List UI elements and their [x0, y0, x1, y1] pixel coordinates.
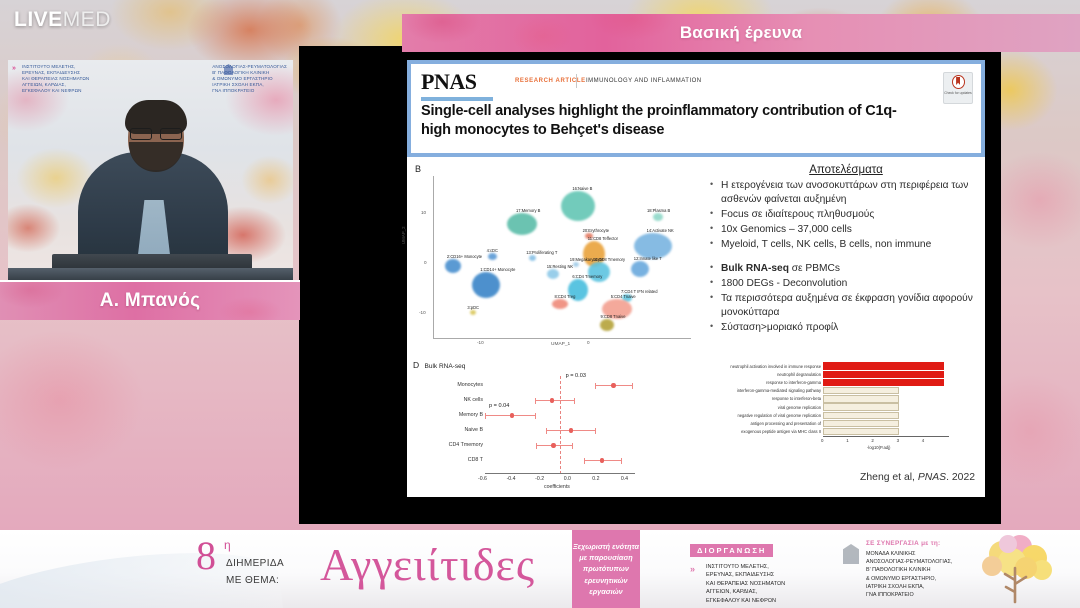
go-bar-label: viral genome replication [699, 405, 823, 410]
conference-subtitle-1: ΔΙΗΜΕΡΙΔΑ [226, 558, 284, 569]
go-bar-track [823, 395, 949, 402]
go-xtick: 4 [922, 438, 924, 443]
umap-cluster-label: 15:Resting NK [547, 264, 573, 269]
go-bar-label: neutrophil activation involved in immune… [699, 364, 823, 369]
go-bar-row: antigen processing and presentation of [699, 419, 949, 427]
go-bar [823, 387, 899, 394]
forest-row-label: CD8 T [468, 457, 483, 463]
journal-section-label: IMMUNOLOGY AND INFLAMMATION [586, 78, 702, 84]
umap-xtick-0: 0 [587, 340, 590, 345]
forest-row [485, 415, 635, 416]
organizer-body: » ΙΝΣΤΙΤΟΥΤΟ ΜΕΛΕΤΗΣ, ΕΡΕΥΝΑΣ, ΕΚΠΑΙΔΕΥΣ… [690, 563, 785, 605]
conference-ordinal: 8 [196, 536, 216, 576]
check-for-updates-badge[interactable]: Check for updates [943, 72, 973, 104]
umap-cluster-label: 11:CD8 Teffector [588, 236, 618, 241]
go-bar-label: negative regulation of viral genome repl… [699, 413, 823, 418]
conference-ordinal-suffix: η [224, 538, 231, 552]
tree-logo-icon [968, 532, 1064, 606]
organizer-text: ΙΝΣΤΙΤΟΥΤΟ ΜΕΛΕΤΗΣ, ΕΡΕΥΝΑΣ, ΕΚΠΑΙΔΕΥΣΗΣ… [706, 563, 785, 605]
go-bar-label: response to interferon-gamma [699, 380, 823, 385]
go-bar-track [823, 403, 949, 410]
umap-cluster-label: 12:Innate like T [634, 256, 662, 261]
umap-cluster-label: 8:CD4 Treg [554, 294, 575, 299]
umap-cluster [600, 319, 614, 331]
umap-cluster [470, 310, 476, 315]
umap-x-axis [433, 338, 691, 339]
bookmark-icon [952, 75, 965, 89]
speaker-overlay-clinic: ΑΝΟΣΟΛΟΓΙΑΣ-ΡΕΥΜΑΤΟΛΟΓΙΑΣ Β' ΠΑΘΟΛΟΓΙΚΗ … [212, 64, 287, 93]
special-session-note: Ξεχωριστή ενότητα με παρουσίαση πρωτότυπ… [572, 530, 640, 608]
forest-row-label: CD4 Tmemory [449, 442, 483, 448]
umap-cluster-label: 2:CD16+ Monocyte [447, 254, 482, 259]
citation: Zheng et al, PNAS. 2022 [860, 472, 975, 483]
slide-content: PNAS RESEARCH ARTICLE IMMUNOLOGY AND INF… [407, 60, 985, 497]
umap-cluster [488, 253, 497, 260]
forest-pvalue: p = 0.04 [489, 403, 509, 409]
citation-journal: PNAS [918, 472, 946, 483]
check-for-updates-label: Check for updates [944, 91, 972, 95]
footer-swoosh [0, 539, 283, 608]
speaker-name-bar: Α. Μπανός [0, 282, 300, 320]
forest-row [485, 460, 635, 461]
umap-ytick-0: 0 [424, 260, 427, 265]
umap-x-axis-label: UMAP_1 [551, 342, 570, 347]
results-list-scrna: Η ετερογένεια των ανοσοκυττάρων στη περι… [707, 179, 985, 251]
go-x-axis [823, 436, 949, 437]
umap-cluster [552, 299, 568, 309]
special-session-text: Ξεχωριστή ενότητα με παρουσίαση πρωτότυπ… [572, 541, 640, 597]
go-bar-label: antigen processing and presentation of [699, 421, 823, 426]
umap-ytick-10: 10 [421, 210, 426, 215]
chevron-right-icon: » [690, 563, 695, 577]
masthead-divider [576, 74, 577, 88]
results-list-bulk: Bulk RNA-seq σε PBMCs1800 DEGs - Deconvo… [707, 262, 985, 334]
results-heading: Αποτελέσματα [707, 164, 985, 176]
go-bar-label: neutrophil degranulation [699, 372, 823, 377]
umap-cluster-label: 9:CD8 Tnaive [601, 314, 626, 319]
forest-row [485, 400, 635, 401]
screen: LIVEMED Βασική έρευνα » ΙΝΣΤΙΤΟΥΤΟ ΜΕΛΕΤ… [0, 0, 1080, 608]
forest-pvalue: p = 0.03 [566, 373, 586, 379]
panel-d-title: Bulk RNA-seq [425, 363, 466, 370]
forest-xtick: 0.2 [592, 476, 599, 482]
go-xtick: 2 [871, 438, 873, 443]
result-item: Focus σε ιδιαίτερους πληθυσμούς [707, 208, 985, 222]
forest-xtick: -0.6 [478, 476, 487, 482]
umap-cluster [547, 269, 559, 279]
chevron-right-icon: » [12, 65, 16, 72]
result-item: Τα περισσότερα αυξημένα σε έκφραση γονίδ… [707, 292, 985, 320]
go-bar-label: interferon-gamma-mediated signaling path… [699, 388, 823, 393]
forest-row-label: Naive B [464, 427, 483, 433]
go-bar [823, 362, 944, 369]
livemed-med: MED [63, 8, 111, 31]
forest-x-axis-label: coefficients [544, 484, 570, 490]
umap-panel: B UMAP_2 UMAP_1 10 0 -10 -10 0 16:Naive … [411, 164, 703, 356]
umap-cluster-label: 16:Naive B [572, 186, 592, 191]
conference-title: Αγγειίτιδες [320, 538, 535, 591]
organizer-heading: ΔΙΟΡΓΑΝΩΣΗ [690, 544, 773, 557]
forest-xtick: 0.4 [621, 476, 628, 482]
speaker-name: Α. Μπανός [100, 290, 201, 312]
go-bar-track [823, 387, 949, 394]
result-item: Myeloid, T cells, NK cells, B cells, non… [707, 238, 985, 252]
go-bar-track [823, 371, 949, 378]
go-bar [823, 403, 899, 410]
umap-cluster-label: 20:Erythrocyte [583, 228, 609, 233]
umap-cluster-label: 5:CD4 Tnaive [611, 294, 636, 299]
go-enrichment-chart: neutrophil activation involved in immune… [699, 362, 949, 460]
umap-ytick-neg10: -10 [419, 310, 426, 315]
umap-cluster-label: 1:CD14+ Monocyte [480, 267, 515, 272]
session-header-band: Βασική έρευνα [402, 14, 1080, 52]
result-item: Bulk RNA-seq σε PBMCs [707, 262, 985, 276]
pnas-rule [421, 97, 493, 101]
umap-cluster-label: 10:CD8 Tmemory [593, 257, 625, 262]
citation-authors: Zheng et al, [860, 472, 918, 483]
umap-y-axis-label: UMAP_2 [401, 226, 406, 244]
umap-y-axis [433, 176, 434, 338]
forest-row-label: NK cells [464, 397, 483, 403]
forest-row [485, 445, 635, 446]
results-section: Αποτελέσματα Η ετερογένεια των ανοσοκυττ… [707, 164, 985, 336]
umap-cluster-label: 3:pDC [467, 305, 479, 310]
speaker-overlay-institute: ΙΝΣΤΙΤΟΥΤΟ ΜΕΛΕΤΗΣ, ΕΡΕΥΝΑΣ, ΕΚΠΑΙΔΕΥΣΗΣ… [22, 64, 89, 93]
result-item: Η ετερογένεια των ανοσοκυττάρων στη περι… [707, 179, 985, 207]
umap-cluster-label: 18:Plasma B [647, 208, 670, 213]
go-bar [823, 428, 899, 435]
umap-cluster [653, 213, 663, 221]
umap-cluster [631, 261, 649, 277]
go-bar-track [823, 428, 949, 435]
citation-year: . 2022 [946, 472, 975, 483]
session-title: Βασική έρευνα [680, 23, 802, 43]
umap-cluster [445, 259, 461, 273]
umap-cluster-label: 17:Memory B [516, 208, 540, 213]
go-bar [823, 412, 899, 419]
umap-cluster [507, 213, 537, 235]
speaker-glasses [129, 128, 183, 140]
livemed-logo: LIVEMED [14, 8, 111, 32]
journal-card: PNAS RESEARCH ARTICLE IMMUNOLOGY AND INF… [411, 64, 981, 153]
forest-row [485, 430, 635, 431]
go-bar-row: response to interferon-gamma [699, 378, 949, 386]
umap-cluster [573, 262, 579, 267]
go-xtick: 0 [821, 438, 823, 443]
forest-row [485, 385, 635, 386]
umap-cluster-label: 13:Proliferating T [526, 250, 557, 255]
result-item: 10x Genomics – 37,000 cells [707, 223, 985, 237]
forest-row-label: Monocytes [457, 382, 483, 388]
go-bar-track [823, 362, 949, 369]
forest-xtick: -0.2 [535, 476, 544, 482]
go-xtick: 3 [897, 438, 899, 443]
go-bar-label: response to interferon-beta [699, 396, 823, 401]
article-title: Single-cell analyses highlight the proin… [421, 102, 921, 140]
result-item: 1800 DEGs - Deconvolution [707, 277, 985, 291]
umap-cluster-label: 6:CD4 Tmemory [572, 274, 602, 279]
result-item: Σύσταση>μοριακό προφίλ [707, 321, 985, 335]
livemed-live: LIVE [14, 8, 63, 31]
go-x-axis-label: -log10(P.adj) [867, 445, 890, 450]
forest-plot: Monocytesp = 0.03NK cellsMemory Bp = 0.0… [485, 376, 635, 474]
forest-row-label: Memory B [459, 412, 483, 418]
umap-xtick-neg10: -10 [477, 340, 484, 345]
go-bar-row: exogenous peptide antigen via MHC class … [699, 428, 949, 436]
speaker-video[interactable]: » ΙΝΣΤΙΤΟΥΤΟ ΜΕΛΕΤΗΣ, ΕΡΕΥΝΑΣ, ΕΚΠΑΙΔΕΥΣ… [8, 60, 293, 282]
forest-plot-panel: D Bulk RNA-seq Monocytesp = 0.03NK cells… [411, 360, 703, 494]
conference-subtitle-2: ΜΕ ΘΕΜΑ: [226, 575, 279, 586]
pnas-logo: PNAS [421, 71, 476, 93]
go-bar [823, 379, 944, 386]
go-bar-row: viral genome replication [699, 403, 949, 411]
umap-cluster [472, 272, 500, 298]
go-bar [823, 395, 899, 402]
name-bar-divider [0, 280, 300, 282]
umap-cluster-label: 14:Activate NK [647, 228, 674, 233]
panel-d-label: D Bulk RNA-seq [413, 360, 465, 370]
go-bar-row: negative regulation of viral genome repl… [699, 411, 949, 419]
go-bar-row: neutrophil activation involved in immune… [699, 362, 949, 370]
go-bar-label: exogenous peptide antigen via MHC class … [699, 429, 823, 434]
forest-x-axis [485, 473, 635, 474]
go-bar [823, 371, 944, 378]
umap-cluster [529, 255, 536, 261]
journal-masthead: PNAS RESEARCH ARTICLE IMMUNOLOGY AND INF… [407, 60, 985, 157]
umap-cluster [588, 262, 610, 282]
go-bar-track [823, 420, 949, 427]
forest-xtick: 0.0 [564, 476, 571, 482]
umap-cluster-label: 4:cDC [487, 248, 498, 253]
umap-cluster [561, 191, 595, 221]
panel-b-label: B [415, 164, 421, 174]
go-bar-track [823, 379, 949, 386]
organizer-block: ΔΙΟΡΓΑΝΩΣΗ » ΙΝΣΤΙΤΟΥΤΟ ΜΕΛΕΤΗΣ, ΕΡΕΥΝΑΣ… [690, 540, 785, 605]
go-bar-row: neutrophil degranulation [699, 370, 949, 378]
go-xtick: 1 [846, 438, 848, 443]
forest-xtick: -0.4 [507, 476, 516, 482]
go-bar-row: interferon-gamma-mediated signaling path… [699, 387, 949, 395]
go-bar [823, 420, 899, 427]
slide-viewport[interactable]: PNAS RESEARCH ARTICLE IMMUNOLOGY AND INF… [299, 46, 1001, 524]
go-bar-row: response to interferon-beta [699, 395, 949, 403]
go-bar-track [823, 412, 949, 419]
